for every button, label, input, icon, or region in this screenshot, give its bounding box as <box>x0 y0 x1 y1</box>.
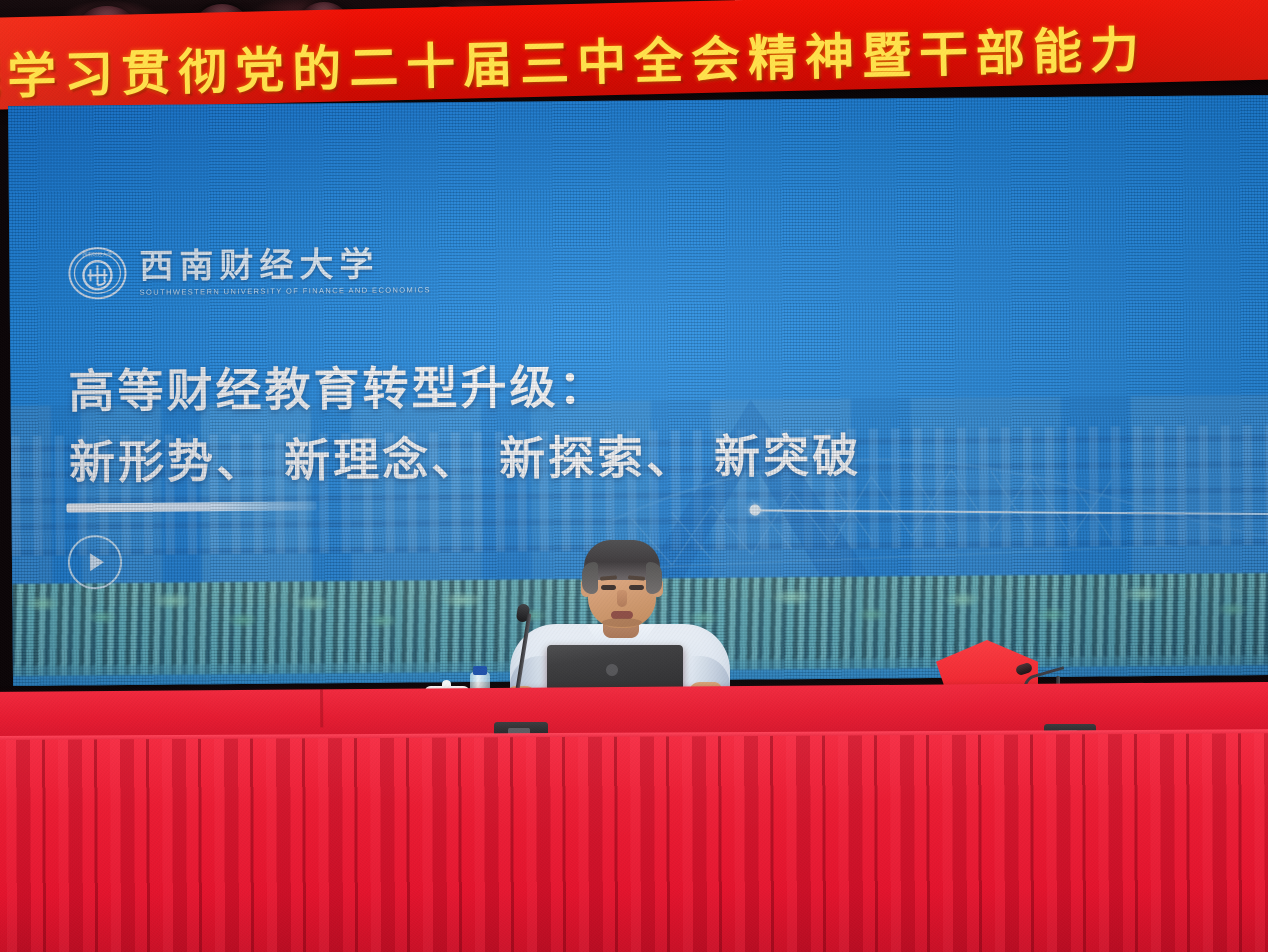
speaker-eye-right <box>629 585 644 590</box>
speaker-chin-shadow <box>602 618 642 627</box>
slide-play-button[interactable] <box>68 535 122 589</box>
photo-scene: 院学习贯彻党的二十届三中全会精神暨干部能力 <box>0 0 1268 952</box>
speaker-hair-side-right <box>646 562 662 594</box>
table-skirt <box>0 733 1268 952</box>
play-triangle-icon <box>90 553 104 571</box>
speaker-hair-side-left <box>582 562 598 594</box>
event-banner: 院学习贯彻党的二十届三中全会精神暨干部能力 <box>0 0 1268 110</box>
table-seam <box>320 689 323 727</box>
university-seal: 西南财经大学 <box>67 243 128 304</box>
slide-title-line1: 高等财经教育转型升级： <box>68 355 1068 420</box>
laptop-logo <box>606 664 618 676</box>
logo-chinese-name: 西南财经大学 <box>139 247 431 284</box>
water-bottle-cap <box>473 666 487 675</box>
speaker-nose <box>617 590 627 607</box>
logo-english-name: SOUTHWESTERN UNIVERSITY OF FINANCE AND E… <box>140 286 431 296</box>
svg-text:西南财经大学: 西南财经大学 <box>82 251 112 258</box>
logo-wordmark: 西南财经大学 SOUTHWESTERN UNIVERSITY OF FINANC… <box>139 247 431 296</box>
speaker-eye-left <box>601 585 616 590</box>
slide-title-line2: 新形势、 新理念、 新探索、 新突破 <box>69 425 1069 494</box>
university-logo: 西南财经大学 西南财经大学 SOUTHWESTERN UNIVERSITY OF… <box>67 240 431 303</box>
tea-cup-knob <box>442 680 451 688</box>
slide-title: 高等财经教育转型升级： 新形势、 新理念、 新探索、 新突破 <box>68 355 1069 494</box>
